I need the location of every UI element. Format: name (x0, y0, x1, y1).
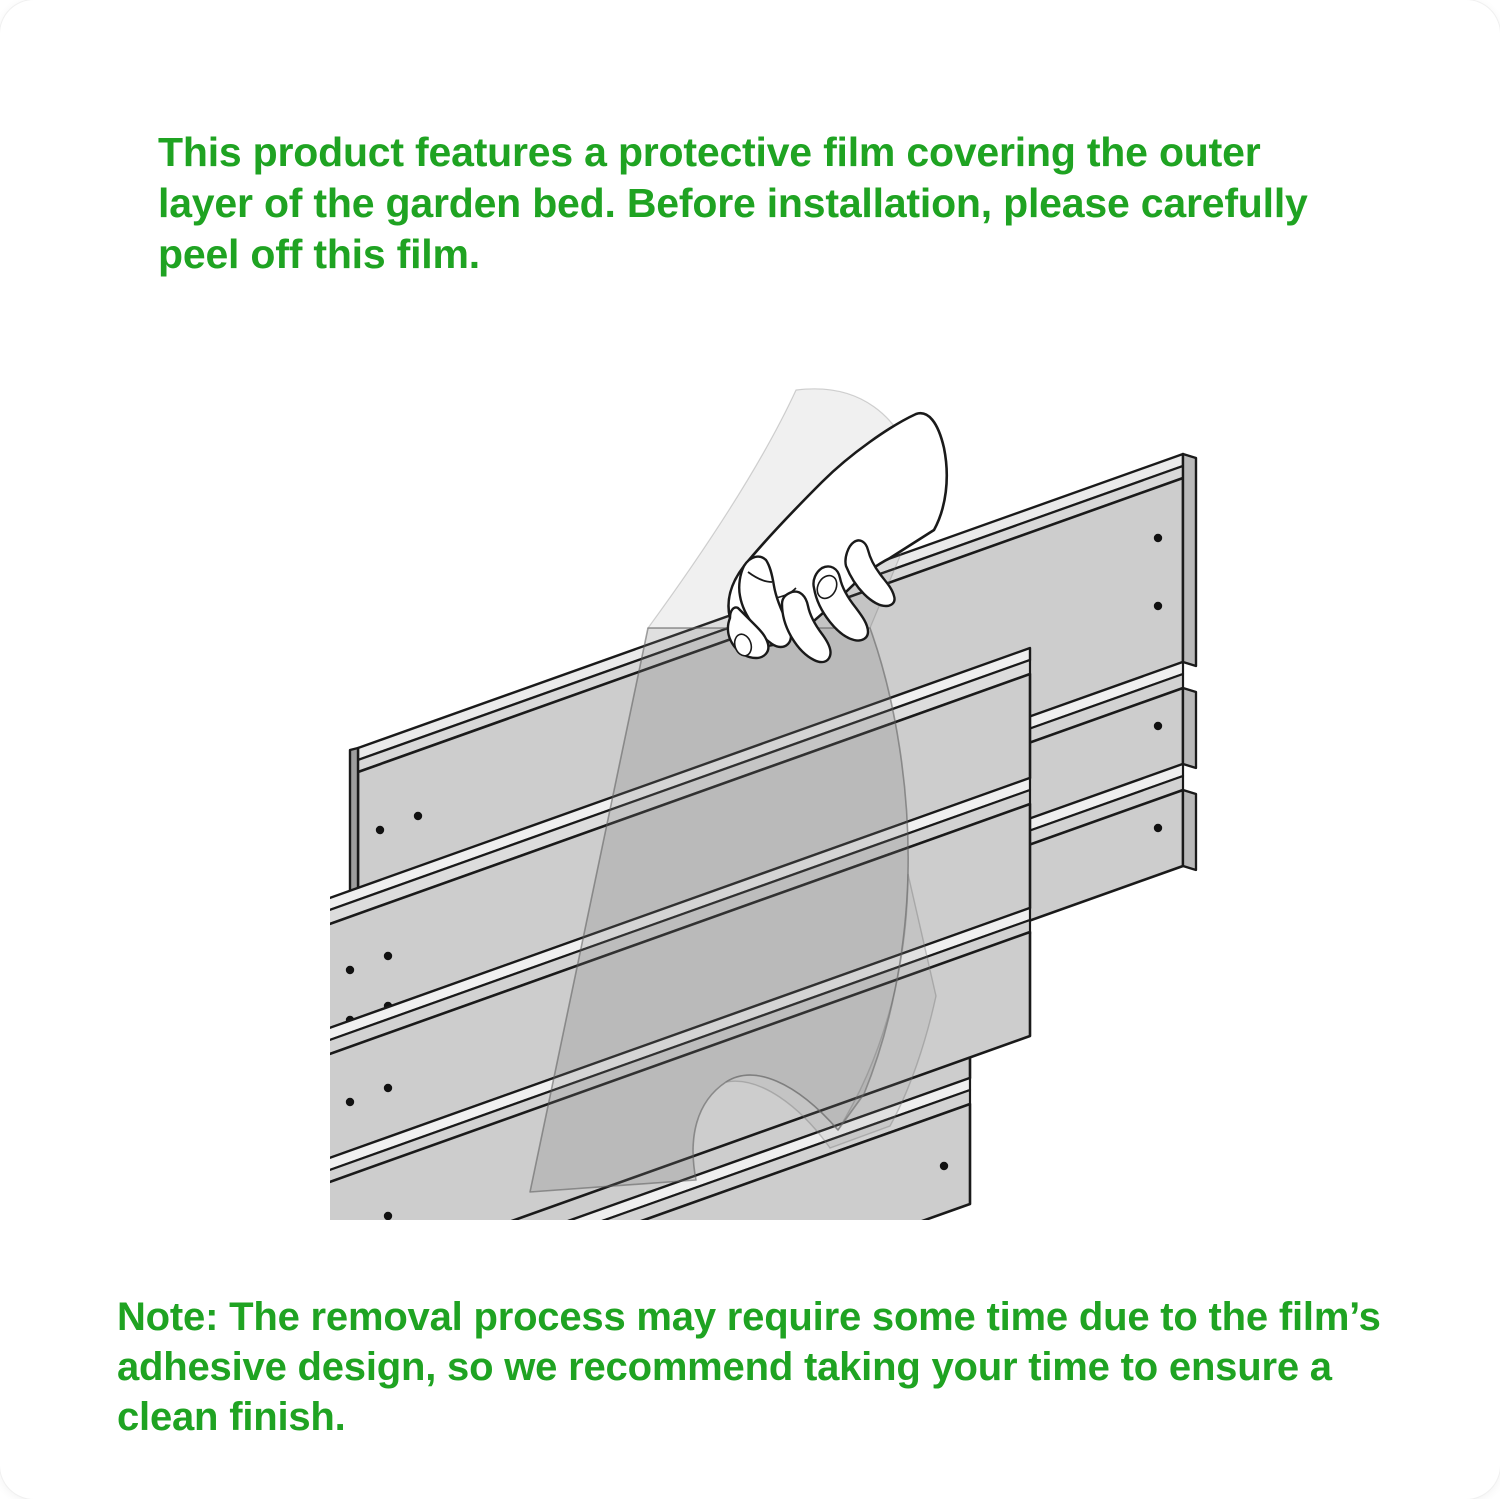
instruction-card: This product features a protective film … (0, 0, 1500, 1499)
bottom-note-text: Note: The removal process may require so… (117, 1292, 1407, 1442)
protective-film-peel-illustration (330, 230, 1210, 1220)
